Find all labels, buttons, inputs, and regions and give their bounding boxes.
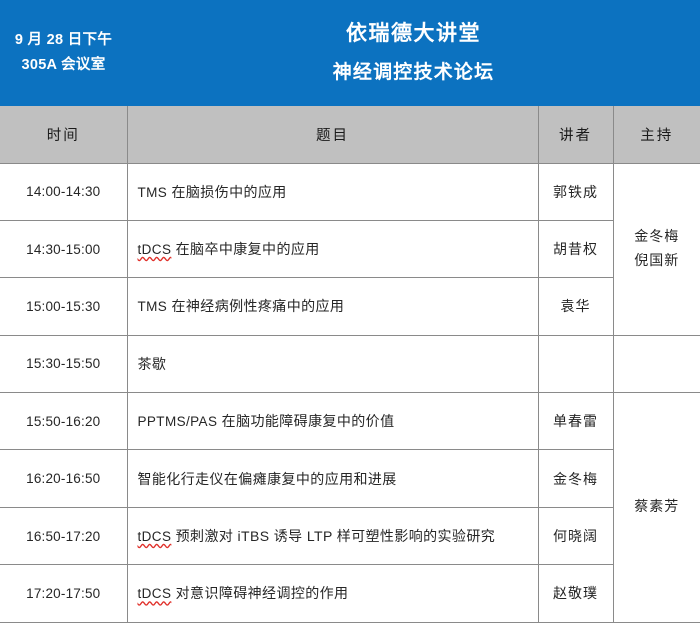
topic-latin: tDCS xyxy=(138,242,172,257)
cell-time: 15:00-15:30 xyxy=(0,278,127,335)
topic-latin: tDCS xyxy=(138,529,172,544)
banner-title-main: 依瑞德大讲堂 xyxy=(127,20,700,48)
banner-date-line: 9 月 28 日下午 xyxy=(0,28,127,53)
cell-topic: tDCS 对意识障碍神经调控的作用 xyxy=(127,565,538,622)
topic-rest: 在脑功能障碍康复中的价值 xyxy=(217,413,394,429)
banner-venue-line: 305A 会议室 xyxy=(0,53,127,78)
cell-time: 16:20-16:50 xyxy=(0,450,127,507)
cell-topic: tDCS 在脑卒中康复中的应用 xyxy=(127,220,538,277)
topic-rest: 预刺激对 iTBS 诱导 LTP 样可塑性影响的实验研究 xyxy=(171,528,495,544)
cell-topic: 茶歇 xyxy=(127,335,538,392)
column-header-topic: 题目 xyxy=(127,106,538,163)
cell-speaker: 赵敬璞 xyxy=(538,565,613,622)
cell-speaker: 金冬梅 xyxy=(538,450,613,507)
topic-rest: 在脑损伤中的应用 xyxy=(167,184,287,200)
topic-latin: TMS xyxy=(138,299,168,314)
topic-rest: 在脑卒中康复中的应用 xyxy=(171,241,319,257)
host-name: 金冬梅 xyxy=(615,225,700,249)
cell-host: 金冬梅 倪国新 xyxy=(613,163,700,335)
host-name-stack: 蔡素芳 xyxy=(615,495,700,519)
host-name: 蔡素芳 xyxy=(615,495,700,519)
cell-speaker: 郭铁成 xyxy=(538,163,613,220)
table-row: 15:50-16:20 PPTMS/PAS 在脑功能障碍康复中的价值 单春雷 蔡… xyxy=(0,393,700,450)
table-row-break: 15:30-15:50 茶歇 xyxy=(0,335,700,392)
host-name-stack: 金冬梅 倪国新 xyxy=(615,225,700,273)
table-row: 16:50-17:20 tDCS 预刺激对 iTBS 诱导 LTP 样可塑性影响… xyxy=(0,507,700,564)
cell-speaker: 胡昔权 xyxy=(538,220,613,277)
table-row: 16:20-16:50 智能化行走仪在偏瘫康复中的应用和进展 金冬梅 xyxy=(0,450,700,507)
banner-row: 9 月 28 日下午 305A 会议室 依瑞德大讲堂 神经调控技术论坛 xyxy=(0,0,700,106)
cell-host-empty xyxy=(613,335,700,392)
table-row: 17:20-17:50 tDCS 对意识障碍神经调控的作用 赵敬璞 xyxy=(0,565,700,622)
cell-host: 蔡素芳 xyxy=(613,393,700,623)
column-header-speaker: 讲者 xyxy=(538,106,613,163)
host-name: 倪国新 xyxy=(615,249,700,273)
cell-time: 15:50-16:20 xyxy=(0,393,127,450)
topic-latin: TMS xyxy=(138,185,168,200)
cell-time: 14:30-15:00 xyxy=(0,220,127,277)
cell-speaker: 袁华 xyxy=(538,278,613,335)
table-row: 14:00-14:30 TMS 在脑损伤中的应用 郭铁成 金冬梅 倪国新 xyxy=(0,163,700,220)
cell-speaker xyxy=(538,335,613,392)
cell-topic: TMS 在神经病例性疼痛中的应用 xyxy=(127,278,538,335)
topic-latin: PPTMS/PAS xyxy=(138,414,218,429)
column-header-row: 时间 题目 讲者 主持 xyxy=(0,106,700,163)
cell-time: 17:20-17:50 xyxy=(0,565,127,622)
topic-rest: 对意识障碍神经调控的作用 xyxy=(171,585,348,601)
cell-time: 14:00-14:30 xyxy=(0,163,127,220)
table-row: 15:00-15:30 TMS 在神经病例性疼痛中的应用 袁华 xyxy=(0,278,700,335)
banner-title-sub: 神经调控技术论坛 xyxy=(127,60,700,86)
topic-rest: 茶歇 xyxy=(138,356,167,372)
cell-topic: PPTMS/PAS 在脑功能障碍康复中的价值 xyxy=(127,393,538,450)
topic-rest: 智能化行走仪在偏瘫康复中的应用和进展 xyxy=(138,471,397,487)
cell-time: 16:50-17:20 xyxy=(0,507,127,564)
cell-topic: tDCS 预刺激对 iTBS 诱导 LTP 样可塑性影响的实验研究 xyxy=(127,507,538,564)
table-row: 14:30-15:00 tDCS 在脑卒中康复中的应用 胡昔权 xyxy=(0,220,700,277)
banner-title: 依瑞德大讲堂 神经调控技术论坛 xyxy=(127,0,700,106)
column-header-host: 主持 xyxy=(613,106,700,163)
topic-rest: 在神经病例性疼痛中的应用 xyxy=(167,298,344,314)
cell-speaker: 单春雷 xyxy=(538,393,613,450)
topic-latin: tDCS xyxy=(138,586,172,601)
cell-topic: 智能化行走仪在偏瘫康复中的应用和进展 xyxy=(127,450,538,507)
cell-time: 15:30-15:50 xyxy=(0,335,127,392)
cell-speaker: 何晓阔 xyxy=(538,507,613,564)
column-header-time: 时间 xyxy=(0,106,127,163)
cell-topic: TMS 在脑损伤中的应用 xyxy=(127,163,538,220)
session-schedule-table: 9 月 28 日下午 305A 会议室 依瑞德大讲堂 神经调控技术论坛 时间 题… xyxy=(0,0,700,623)
banner-date-venue: 9 月 28 日下午 305A 会议室 xyxy=(0,0,127,106)
